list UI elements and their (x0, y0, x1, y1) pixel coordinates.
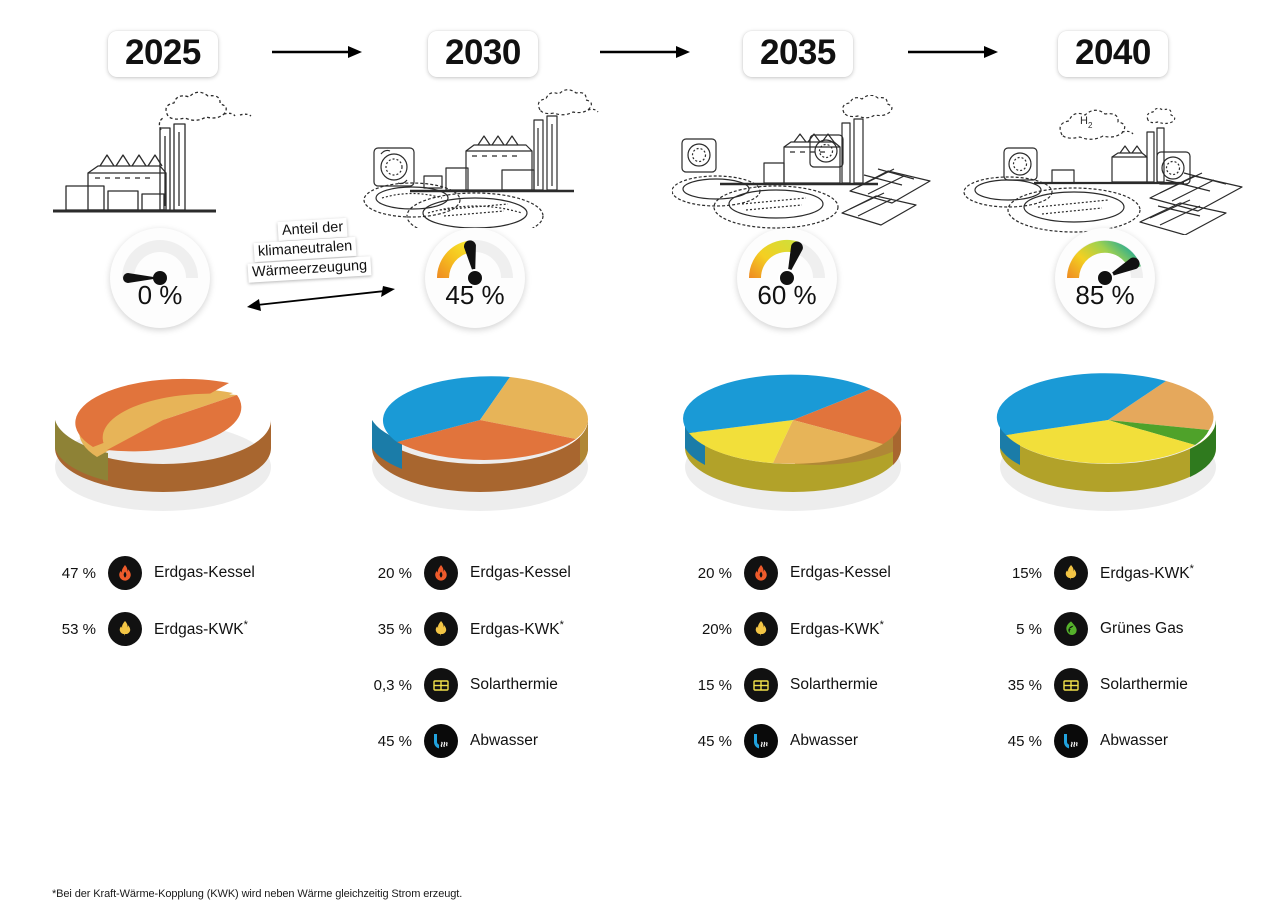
legend-row[interactable]: 47 % Erdgas-Kessel (52, 554, 255, 592)
legend-row[interactable]: 20% Erdgas-KWK* (688, 610, 891, 648)
arrow-right-icon-2 (600, 42, 690, 62)
pie-chart-2035 (675, 345, 915, 520)
legend-row[interactable]: 20 % Erdgas-Kessel (368, 554, 571, 592)
legend-row[interactable]: 20 % Erdgas-Kessel (688, 554, 891, 592)
solar-panel-icon (424, 668, 458, 702)
flame-bolt-icon (424, 612, 458, 646)
footnote-star: * (560, 619, 564, 631)
legend-percent: 45 % (998, 733, 1054, 750)
wastewater-heat-icon (424, 724, 458, 758)
legend-percent: 20 % (368, 565, 424, 582)
legend-row[interactable]: 35 % Solarthermie (998, 666, 1194, 704)
gauge-2030: 45 % (425, 228, 525, 328)
legend-percent: 0,3 % (368, 677, 424, 694)
footnote-star: * (1190, 563, 1194, 575)
legend-percent: 15% (998, 565, 1054, 582)
legend-label: Grünes Gas (1088, 620, 1184, 638)
year-badge-2035: 2035 (743, 31, 853, 77)
legend-label: Abwasser (778, 732, 858, 750)
flame-bolt-icon (744, 612, 778, 646)
legend-label: Erdgas-KWK* (458, 619, 564, 639)
gauge-value-2025: 0 % (110, 280, 210, 311)
legend-2035: 20 % Erdgas-Kessel 20% Erdgas-KWK* 15 % … (688, 554, 891, 778)
illustration-plant-solar (672, 95, 934, 235)
legend-label: Erdgas-KWK* (142, 619, 248, 639)
legend-percent: 20 % (688, 565, 744, 582)
footnote: *Bei der Kraft-Wärme-Kopplung (KWK) wird… (52, 888, 462, 900)
legend-label-text: Solarthermie (470, 676, 558, 693)
wastewater-heat-icon (1054, 724, 1088, 758)
legend-percent: 15 % (688, 677, 744, 694)
legend-label: Erdgas-Kessel (458, 564, 571, 582)
gauge-2025: 0 % (110, 228, 210, 328)
double-arrow-icon (245, 286, 397, 317)
flame-bolt-icon (1054, 556, 1088, 590)
solar-panel-icon (1054, 668, 1088, 702)
legend-percent: 35 % (998, 677, 1054, 694)
green-flame-leaf-icon (1054, 612, 1088, 646)
legend-percent: 45 % (368, 733, 424, 750)
legend-2040: 15% Erdgas-KWK* 5 % Grünes Gas 35 % Sola… (998, 554, 1194, 778)
legend-row[interactable]: 5 % Grünes Gas (998, 610, 1194, 648)
legend-label: Abwasser (458, 732, 538, 750)
legend-label-text: Erdgas-KWK (470, 621, 560, 638)
gauge-value-2040: 85 % (1055, 280, 1155, 311)
legend-2025: 47 % Erdgas-Kessel 53 % Erdgas-KWK* (52, 554, 255, 666)
legend-label-text: Erdgas-Kessel (154, 564, 255, 581)
legend-label-text: Erdgas-KWK (154, 621, 244, 638)
legend-label: Erdgas-Kessel (142, 564, 255, 582)
pie-chart-2040 (990, 345, 1230, 520)
arrow-right-icon-1 (272, 42, 362, 62)
flame-icon (108, 556, 142, 590)
legend-label: Erdgas-KWK* (1088, 563, 1194, 583)
legend-percent: 5 % (998, 621, 1054, 638)
legend-label-text: Solarthermie (1100, 676, 1188, 693)
legend-label: Solarthermie (458, 676, 558, 694)
gauge-2035: 60 % (737, 228, 837, 328)
legend-label-text: Erdgas-Kessel (790, 564, 891, 581)
flame-bolt-icon (108, 612, 142, 646)
legend-label-text: Abwasser (1100, 732, 1168, 749)
legend-label: Erdgas-Kessel (778, 564, 891, 582)
flame-icon (424, 556, 458, 590)
legend-label-text: Erdgas-KWK (1100, 565, 1190, 582)
legend-row[interactable]: 45 % Abwasser (688, 722, 891, 760)
pie-chart-2030 (362, 345, 602, 520)
solar-panel-icon (744, 668, 778, 702)
legend-row[interactable]: 53 % Erdgas-KWK* (52, 610, 255, 648)
legend-row[interactable]: 45 % Abwasser (368, 722, 571, 760)
legend-row[interactable]: 15 % Solarthermie (688, 666, 891, 704)
legend-percent: 47 % (52, 565, 108, 582)
legend-label: Solarthermie (1088, 676, 1188, 694)
flame-icon (744, 556, 778, 590)
year-badge-2030: 2030 (428, 31, 538, 77)
legend-label-text: Abwasser (470, 732, 538, 749)
legend-label: Erdgas-KWK* (778, 619, 884, 639)
legend-percent: 20% (688, 621, 744, 638)
footnote-star: * (880, 619, 884, 631)
year-badge-2025: 2025 (108, 31, 218, 77)
legend-label: Solarthermie (778, 676, 878, 694)
infographic-canvas: 2025 2030 2035 2040 (0, 0, 1280, 912)
illustration-plant-heatpump (362, 88, 630, 233)
legend-row[interactable]: 35 % Erdgas-KWK* (368, 610, 571, 648)
footnote-star: * (244, 619, 248, 631)
legend-row[interactable]: 45 % Abwasser (998, 722, 1194, 760)
legend-percent: 35 % (368, 621, 424, 638)
legend-label-text: Abwasser (790, 732, 858, 749)
gauge-value-2030: 45 % (425, 280, 525, 311)
gauge-value-2035: 60 % (737, 280, 837, 311)
legend-label: Abwasser (1088, 732, 1168, 750)
legend-2030: 20 % Erdgas-Kessel 35 % Erdgas-KWK* 0,3 … (368, 554, 571, 778)
legend-percent: 45 % (688, 733, 744, 750)
legend-label-text: Solarthermie (790, 676, 878, 693)
callout-share-climate-neutral: Anteil der klimaneutralen Wärmeerzeugung (248, 220, 398, 279)
legend-row[interactable]: 15% Erdgas-KWK* (998, 554, 1194, 592)
wastewater-heat-icon (744, 724, 778, 758)
legend-label-text: Erdgas-Kessel (470, 564, 571, 581)
svg-text:H: H (1080, 115, 1088, 127)
arrow-right-icon-3 (908, 42, 998, 62)
gauge-2040: 85 % (1055, 228, 1155, 328)
year-badge-2040: 2040 (1058, 31, 1168, 77)
illustration-renewables-h2: H 2 (962, 100, 1262, 240)
legend-percent: 53 % (52, 621, 108, 638)
illustration-coal-plant (48, 88, 278, 233)
legend-label-text: Grünes Gas (1100, 620, 1184, 637)
svg-text:2: 2 (1088, 121, 1093, 130)
pie-chart-2025 (45, 345, 285, 520)
legend-label-text: Erdgas-KWK (790, 621, 880, 638)
legend-row[interactable]: 0,3 % Solarthermie (368, 666, 571, 704)
